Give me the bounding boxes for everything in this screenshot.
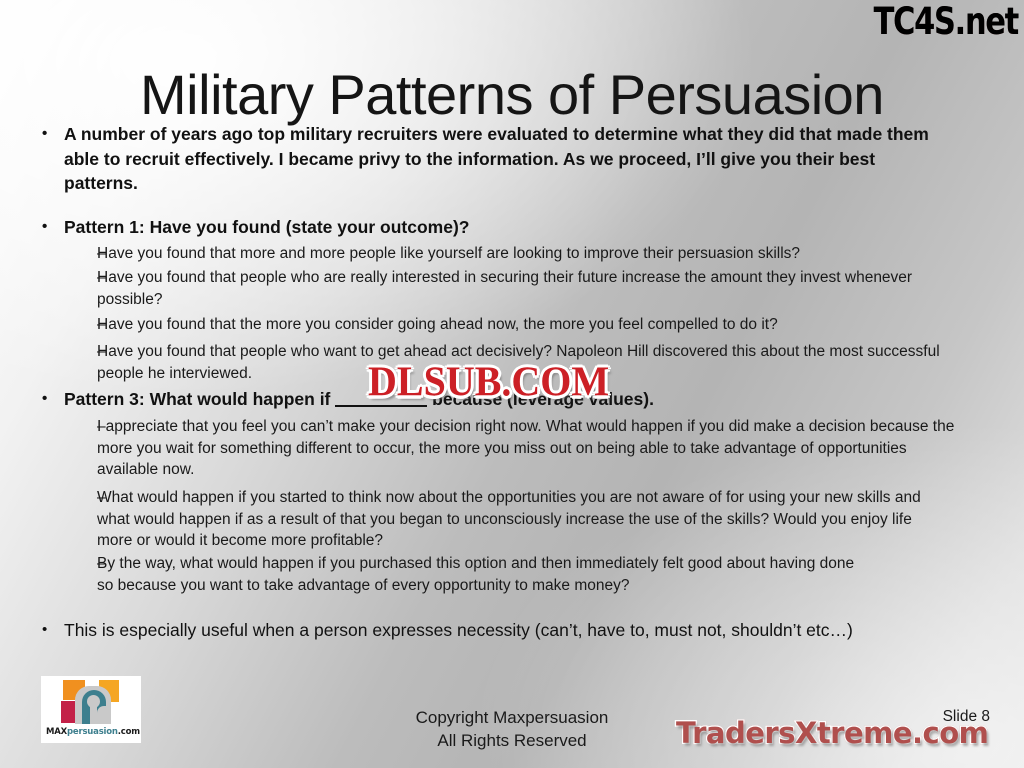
dash-glyph: – [22, 267, 97, 310]
list-item-p1-sub3: – Have you found that the more you consi… [22, 314, 982, 336]
bullet-glyph: • [22, 122, 64, 196]
bullet-intro-text: A number of years ago top military recru… [64, 122, 937, 196]
dash-glyph: – [22, 341, 97, 384]
list-item-p3-sub3: – By the way, what would happen if you p… [22, 553, 862, 596]
dash-glyph: – [22, 487, 97, 552]
dash-glyph: – [22, 416, 97, 481]
slide-canvas: TC4S.net Military Patterns of Persuasion… [0, 0, 1024, 768]
list-item-p3-sub1: – I appreciate that you feel you can’t m… [22, 416, 970, 481]
bullet-glyph: • [22, 387, 64, 412]
pattern1-heading-text: Pattern 1: Have you found (state your ou… [64, 215, 937, 240]
bullet-closing: • This is especially useful when a perso… [22, 618, 902, 643]
dash-glyph: – [22, 553, 97, 596]
dlsub-watermark-text: DLSUB.COM [368, 358, 609, 405]
tradersxtreme-watermark: TradersXtreme.com [676, 717, 988, 749]
p1-sub3-text: Have you found that the more you conside… [97, 314, 982, 336]
dlsub-watermark: DLSUB.COM [368, 360, 609, 404]
list-item-p1-sub1: – Have you found that more and more peop… [22, 243, 982, 265]
p3-sub2-text: What would happen if you started to thin… [97, 487, 950, 552]
tradersxtreme-watermark-text: TradersXtreme.com [676, 716, 988, 750]
bullet-glyph: • [22, 618, 64, 643]
tc4s-watermark-text: TC4S.net [874, 0, 1018, 43]
bullet-pattern1-heading: • Pattern 1: Have you found (state your … [22, 215, 937, 240]
p1-sub2-text: Have you found that people who are reall… [97, 267, 957, 310]
dash-glyph: – [22, 314, 97, 336]
tc4s-watermark: TC4S.net [874, 2, 1018, 42]
dash-glyph: – [22, 243, 97, 265]
p3-sub1-text: I appreciate that you feel you can’t mak… [97, 416, 970, 481]
p1-sub1-text: Have you found that more and more people… [97, 243, 982, 265]
p3-sub3-text: By the way, what would happen if you pur… [97, 553, 862, 596]
pattern3-heading-pre: Pattern 3: What would happen if [64, 389, 330, 409]
slide-title: Military Patterns of Persuasion [0, 64, 1024, 126]
bullet-glyph: • [22, 215, 64, 240]
list-item-p3-sub2: – What would happen if you started to th… [22, 487, 950, 552]
closing-text: This is especially useful when a person … [64, 618, 902, 643]
bullet-intro: • A number of years ago top military rec… [22, 122, 937, 196]
list-item-p1-sub2: – Have you found that people who are rea… [22, 267, 957, 310]
